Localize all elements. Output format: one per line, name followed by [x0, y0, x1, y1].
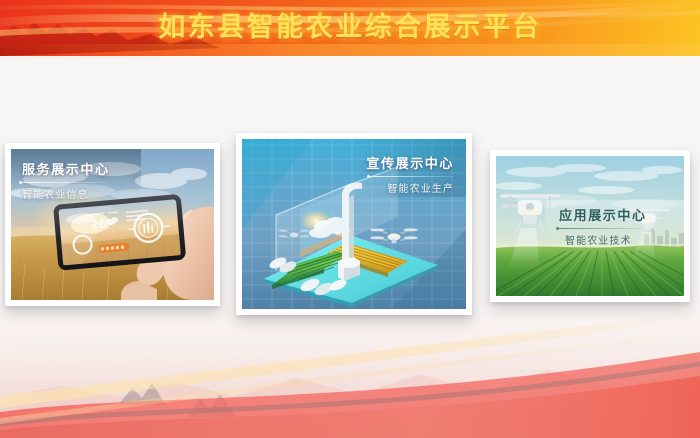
card-promo-display-center[interactable]: 宣传展示中心 智能农业生产 [236, 133, 472, 315]
page-title: 如东县智能农业综合展示平台 [0, 8, 700, 48]
card-promo-divider [370, 176, 454, 177]
card-app-title: 应用展示中心 [559, 205, 647, 224]
card-app-inner: 应用展示中心 智能农业技术 [496, 156, 684, 296]
card-app-caption: 应用展示中心 智能农业技术 [559, 205, 647, 247]
display-platform-page: 如东县智能农业综合展示平台 [0, 0, 700, 438]
card-service-title: 服务展示中心 [22, 159, 110, 178]
card-application-display-center[interactable]: 应用展示中心 智能农业技术 [490, 150, 690, 302]
card-promo-caption: 宣传展示中心 智能农业生产 [366, 153, 454, 195]
card-service-inner: 26° [11, 149, 214, 300]
card-service-subtitle: 智能农业信息 [22, 186, 110, 201]
card-promo-title: 宣传展示中心 [366, 153, 454, 172]
card-promo-inner: 宣传展示中心 智能农业生产 [242, 139, 466, 309]
header-banner: 如东县智能农业综合展示平台 [0, 0, 700, 56]
card-service-divider [22, 182, 106, 183]
card-service-display-center[interactable]: 26° [5, 143, 220, 306]
card-service-caption: 服务展示中心 智能农业信息 [22, 159, 110, 201]
card-promo-subtitle: 智能农业生产 [366, 180, 454, 195]
card-app-divider [559, 228, 643, 229]
card-app-subtitle: 智能农业技术 [559, 232, 647, 247]
